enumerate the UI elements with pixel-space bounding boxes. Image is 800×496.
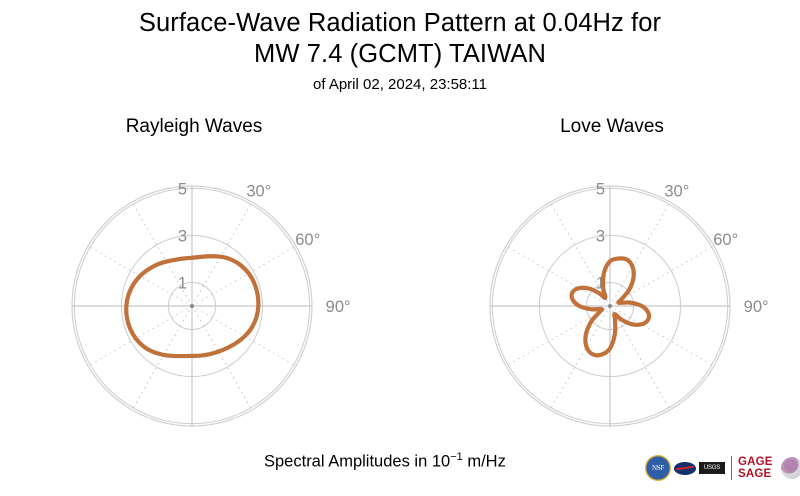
angle-tick-label: 90°: [744, 298, 769, 316]
units-caption: Spectral Amplitudes in 10−1 m/Hz: [264, 451, 506, 472]
earthscope-mark-icon: [781, 457, 800, 479]
gage-sage-logo: GAGE SAGE: [738, 456, 773, 481]
r-tick-label: 5: [178, 180, 187, 198]
sage-label: SAGE: [738, 468, 773, 481]
rayleigh-polar-plot: 13530°60°90°: [67, 181, 317, 431]
usgs-logo-icon: USGS: [699, 462, 725, 474]
logo-divider: [731, 456, 732, 480]
rayleigh-polar-svg: 13530°60°90°: [67, 181, 317, 431]
angle-tick-label: 30°: [246, 182, 271, 200]
love-polar-plot: 13530°60°90°: [485, 181, 735, 431]
rayleigh-labels: 13530°60°90°: [178, 180, 351, 316]
r-tick-label: 1: [178, 274, 187, 292]
love-polar-svg: 13530°60°90°: [485, 181, 735, 431]
figure-title-line1: Surface-Wave Radiation Pattern at 0.04Hz…: [0, 8, 800, 39]
angle-tick-label: 60°: [295, 231, 320, 249]
rayleigh-panel-title: Rayleigh Waves: [44, 116, 344, 138]
r-tick-label: 3: [178, 227, 187, 245]
units-caption-exponent: −1: [450, 451, 463, 463]
figure-title-line2: MW 7.4 (GCMT) TAIWAN: [0, 39, 800, 70]
love-grid: [490, 186, 730, 426]
angle-tick-label: 30°: [664, 182, 689, 200]
earthscope-logo: formerly EarthScope Consortium: [781, 455, 800, 482]
figure-subtitle: of April 02, 2024, 23:58:11: [0, 74, 800, 96]
gage-label: GAGE: [738, 456, 773, 469]
logo-strip: USGS GAGE SAGE formerly EarthScope Conso…: [645, 453, 800, 483]
love-panel-title: Love Waves: [462, 116, 762, 138]
angle-tick-label: 60°: [713, 231, 738, 249]
units-caption-prefix: Spectral Amplitudes in 10: [264, 453, 450, 471]
r-tick-label: 1: [596, 274, 605, 292]
angle-tick-label: 90°: [326, 298, 351, 316]
rayleigh-grid: [72, 186, 312, 426]
nasa-logo-icon: [674, 462, 696, 475]
figure-title-block: Surface-Wave Radiation Pattern at 0.04Hz…: [0, 8, 800, 96]
figure-canvas: Surface-Wave Radiation Pattern at 0.04Hz…: [0, 0, 800, 496]
r-tick-label: 3: [596, 227, 605, 245]
units-caption-suffix: m/Hz: [463, 453, 506, 471]
nsf-logo-icon: [645, 455, 671, 481]
love-labels: 13530°60°90°: [596, 180, 769, 316]
r-tick-label: 5: [596, 180, 605, 198]
